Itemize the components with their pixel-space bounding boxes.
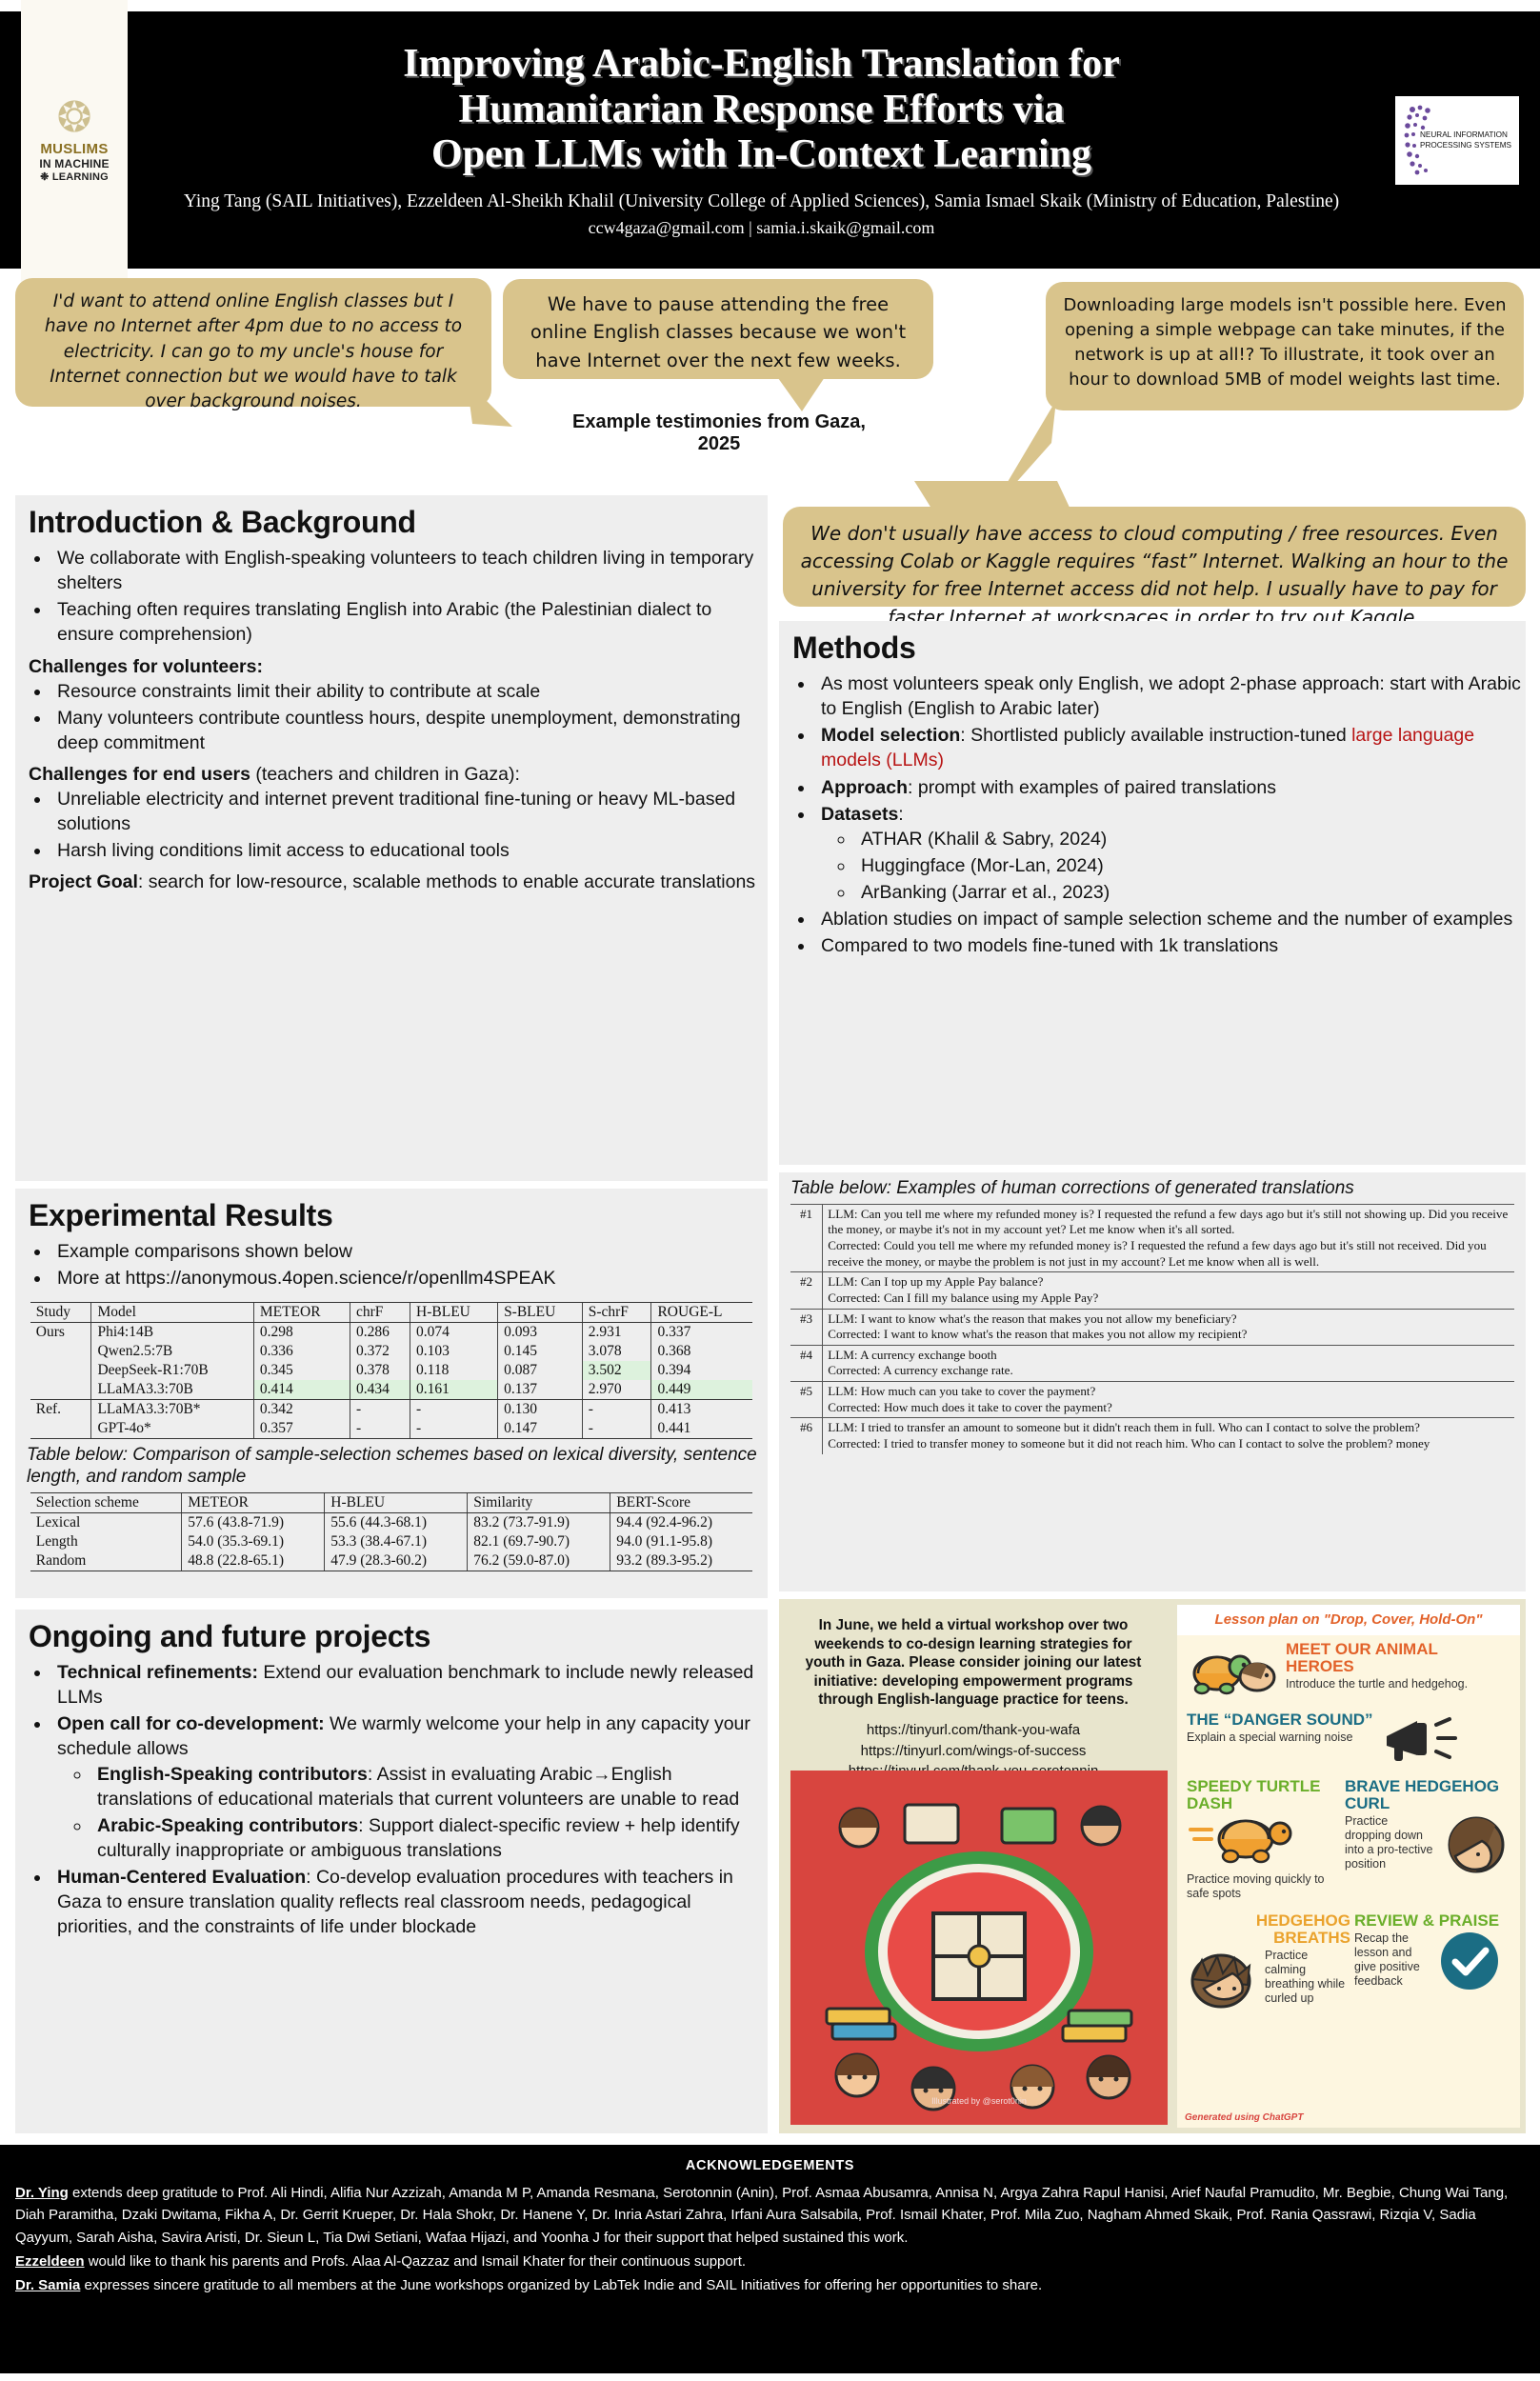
table-row: DeepSeek-R1:70B 0.345 0.378 0.118 0.087 … (30, 1361, 752, 1380)
list-item: Huggingface (Mor-Lan, 2024) (855, 853, 1526, 878)
running-turtle-icon (1187, 1812, 1301, 1866)
cell-sbleu: 0.147 (498, 1419, 583, 1439)
llm-label: LLM: (828, 1420, 861, 1434)
testimony-bubble-1: I'd want to attend online English classe… (15, 278, 491, 407)
open-call-label: Open call for co-development: (57, 1713, 325, 1734)
row-index: #3 (790, 1309, 823, 1345)
llm-text: Can I top up my Apple Pay balance? (861, 1274, 1044, 1289)
row-body: LLM: Can I top up my Apple Pay balance? … (823, 1272, 1514, 1309)
table-row: #4 LLM: A currency exchange booth Correc… (790, 1345, 1514, 1381)
volunteer-challenge-bullets: Resource constraints limit their ability… (51, 679, 768, 755)
cell-scheme: Length (30, 1532, 182, 1551)
breathing-hedgehog-icon (1187, 1947, 1261, 2015)
list-item: Many volunteers contribute countless hou… (51, 706, 768, 755)
corrected-text: Can I fill my balance using my Apple Pay… (884, 1291, 1098, 1305)
llm-text: I tried to transfer an amount to someone… (861, 1420, 1420, 1434)
row-index: #5 (790, 1382, 823, 1418)
corrections-caption: Table below: Examples of human correctio… (790, 1178, 1526, 1200)
cell-sbleu: 0.130 (498, 1400, 583, 1420)
experimental-bullets: Example comparisons shown below More at … (51, 1239, 768, 1291)
acknowledgements-section: ACKNOWLEDGEMENTS Dr. Ying extends deep g… (0, 2145, 1540, 2373)
gaza-classroom-illustration-icon (790, 1771, 1168, 2125)
workshop-panel: In June, we held a virtual workshop over… (779, 1599, 1526, 2133)
ack-text-ying: extends deep gratitude to Prof. Ali Hind… (15, 2185, 1508, 2246)
list-item: ATHAR (Khalil & Sabry, 2024) (855, 827, 1526, 851)
list-item: Harsh living conditions limit access to … (51, 838, 768, 863)
corrected-text: I tried to transfer money to someone but… (884, 1436, 1430, 1451)
ack-text-samia: expresses sincere gratitude to all membe… (80, 2277, 1042, 2293)
workshop-description: In June, we held a virtual workshop over… (785, 1605, 1162, 1710)
project-goal-bold: Project Goal (29, 871, 138, 892)
cell-rougel: 0.368 (651, 1342, 752, 1361)
challenges-volunteers-lead: Challenges for volunteers: (29, 656, 768, 678)
cell-hbleu: - (410, 1400, 498, 1420)
testimony-bubble-3: Downloading large models isn't possible … (1046, 282, 1524, 410)
cell-model: Phi4:14B (91, 1323, 253, 1343)
lesson-item-5-6: HEDGEHOG BREATHS Practice calming breath… (1177, 1907, 1520, 2021)
cell-schrf: 2.931 (582, 1323, 651, 1343)
testimony-bubble-2: We have to pause attending the free onli… (503, 279, 933, 379)
cell-meteor: 0.336 (253, 1342, 350, 1361)
logo-left-line2: IN MACHINE (39, 157, 109, 170)
row-body: LLM: I tried to transfer an amount to so… (823, 1418, 1514, 1454)
cell-schrf: 3.078 (582, 1342, 651, 1361)
table-row: GPT-4o* 0.357 - - 0.147 - 0.441 (30, 1419, 752, 1439)
llm-label: LLM: (828, 1274, 861, 1289)
list-item: Arabic-Speaking contributors: Support di… (91, 1813, 768, 1863)
cell-study: Ref. (30, 1400, 91, 1420)
turtle-hedgehog-icon (1187, 1641, 1278, 1700)
model-selection-label: Model selection (821, 725, 960, 746)
lesson-item-6-sub: Recap the lesson and give positive feedb… (1354, 1931, 1432, 1989)
cell-chrf: - (350, 1400, 410, 1420)
table-row: #3 LLM: I want to know what's the reason… (790, 1309, 1514, 1345)
row-body: LLM: I want to know what's the reason th… (823, 1309, 1514, 1345)
row-index: #6 (790, 1418, 823, 1454)
col-hbleu: H-BLEU (410, 1303, 498, 1323)
list-item: Compared to two models fine-tuned with 1… (815, 933, 1526, 958)
cell-chrf: - (350, 1419, 410, 1439)
list-item: Ablation studies on impact of sample sel… (815, 907, 1526, 931)
title-block: Improving Arabic-English Translation for… (128, 42, 1395, 239)
cell-model: DeepSeek-R1:70B (91, 1361, 253, 1380)
project-goal-rest: : search for low-resource, scalable meth… (138, 871, 755, 892)
human-centered-eval-label: Human-Centered Evaluation (57, 1867, 306, 1888)
list-item: More at https://anonymous.4open.science/… (51, 1266, 768, 1291)
methods-bullets: As most volunteers speak only English, w… (815, 671, 1526, 958)
table-row: Lexical 57.6 (43.8-71.9) 55.6 (44.3-68.1… (30, 1512, 752, 1532)
challenges-endusers-rest: (teachers and children in Gaza): (250, 764, 520, 785)
ack-name-samia: Dr. Samia (15, 2277, 80, 2293)
row-body: LLM: How much can you take to cover the … (823, 1382, 1514, 1418)
table-row: LLaMA3.3:70B 0.414 0.434 0.161 0.137 2.9… (30, 1380, 752, 1400)
introduction-heading: Introduction & Background (29, 505, 768, 540)
row-index: #2 (790, 1272, 823, 1309)
challenges-endusers-lead: Challenges for end users (teachers and c… (29, 764, 768, 786)
table-row: #6 LLM: I tried to transfer an amount to… (790, 1418, 1514, 1454)
col-chrf: chrF (350, 1303, 410, 1323)
lesson-item-4-sub: Practice dropping down into a pro-tectiv… (1345, 1814, 1436, 1871)
acknowledgement-paragraph-2: Ezzeldeen would like to thank his parent… (15, 2251, 1525, 2272)
cell-sbleu: 0.145 (498, 1342, 583, 1361)
lesson-plan-title-bar: Lesson plan on "Drop, Cover, Hold-On" (1177, 1605, 1520, 1635)
cell-study (30, 1342, 91, 1361)
title-line-1: Improving Arabic-English Translation for (139, 42, 1384, 88)
llm-label: LLM: (828, 1348, 860, 1362)
lesson-plan-title: Lesson plan on "Drop, Cover, Hold-On" (1215, 1611, 1483, 1628)
cell-study: Ours (30, 1323, 91, 1343)
testimony-bubble-2-text: We have to pause attending the free onli… (530, 293, 906, 371)
cell-model: LLaMA3.3:70B (91, 1380, 253, 1400)
poster-header: ❂ MUSLIMS IN MACHINE ❉ LEARNING Improvin… (0, 11, 1540, 269)
cell-similarity: 82.1 (69.7-90.7) (468, 1532, 610, 1551)
list-item: Open call for co-development: We warmly … (51, 1711, 768, 1863)
table-row: #5 LLM: How much can you take to cover t… (790, 1382, 1514, 1418)
cell-study (30, 1419, 91, 1439)
approach-label: Approach (821, 777, 908, 798)
corrected-label: Corrected: (828, 1363, 883, 1377)
col-rougel: ROUGE-L (651, 1303, 752, 1323)
datasets-rest: : (898, 804, 903, 825)
testimony-bubble-4: We don't usually have access to cloud co… (783, 507, 1526, 607)
experimental-results-panel: Experimental Results Example comparisons… (15, 1189, 768, 1598)
table-row: Ref. LLaMA3.3:70B* 0.342 - - 0.130 - 0.4… (30, 1400, 752, 1420)
cell-bertscore: 94.0 (91.1-95.8) (610, 1532, 752, 1551)
datasets-list: ATHAR (Khalil & Sabry, 2024) Huggingface… (855, 827, 1526, 905)
cell-study (30, 1361, 91, 1380)
workshop-link[interactable]: https://tinyurl.com/thank-you-wafa (785, 1720, 1162, 1741)
lesson-item-2-heading: THE “DANGER SOUND” (1187, 1711, 1373, 1729)
title-line-2: Humanitarian Response Efforts via (139, 88, 1384, 133)
cell-hbleu: 53.3 (38.4-67.1) (325, 1532, 468, 1551)
row-body: LLM: A currency exchange booth Corrected… (823, 1345, 1514, 1381)
experimental-results-heading: Experimental Results (29, 1198, 768, 1233)
human-corrections-table: #1 LLM: Can you tell me where my refunde… (790, 1204, 1514, 1454)
contact-emails: ccw4gaza@gmail.com | samia.i.skaik@gmail… (139, 218, 1384, 238)
neurips-logo: NEURAL INFORMATION PROCESSING SYSTEMS (1395, 96, 1519, 185)
col-model: Model (91, 1303, 253, 1323)
cell-model: LLaMA3.3:70B* (91, 1400, 253, 1420)
workshop-link[interactable]: https://tinyurl.com/wings-of-success (785, 1741, 1162, 1762)
sample-selection-table-caption: Table below: Comparison of sample-select… (27, 1445, 768, 1489)
lesson-item-5-heading: HEDGEHOG BREATHS (1187, 1912, 1350, 1947)
llm-label: LLM: (828, 1207, 861, 1221)
list-item: Example comparisons shown below (51, 1239, 768, 1264)
col-sbleu: S-BLEU (498, 1303, 583, 1323)
lesson-item-4-heading: BRAVE HEDGEHOG CURL (1345, 1778, 1510, 1812)
cell-meteor: 0.342 (253, 1400, 350, 1420)
cell-chrf: 0.378 (350, 1361, 410, 1380)
cell-schrf: 3.502 (582, 1361, 651, 1380)
approach-rest: : prompt with examples of paired transla… (908, 777, 1276, 798)
cell-rougel: 0.413 (651, 1400, 752, 1420)
english-contributors-label: English-Speaking contributors (97, 1764, 368, 1785)
table-header-row: Selection scheme METEOR H-BLEU Similarit… (30, 1492, 752, 1512)
cell-sbleu: 0.087 (498, 1361, 583, 1380)
neurips-dots-icon (1401, 102, 1449, 178)
cell-rougel: 0.394 (651, 1361, 752, 1380)
cell-meteor: 54.0 (35.3-69.1) (182, 1532, 325, 1551)
cell-meteor: 0.345 (253, 1361, 350, 1380)
col-hbleu: H-BLEU (325, 1492, 468, 1512)
cell-model: GPT-4o* (91, 1419, 253, 1439)
cell-meteor: 0.298 (253, 1323, 350, 1343)
llm-text: A currency exchange booth (860, 1348, 997, 1362)
list-item: Unreliable electricity and internet prev… (51, 787, 768, 836)
llm-label: LLM: (828, 1384, 861, 1398)
llm-text: How much can you take to cover the payme… (861, 1384, 1096, 1398)
lesson-item-1: MEET OUR ANIMAL HEROES Introduce the tur… (1177, 1635, 1520, 1706)
megaphone-icon (1381, 1711, 1463, 1767)
check-circle-icon (1438, 1930, 1501, 1992)
title-line-3: Open LLMs with In-Context Learning (139, 132, 1384, 178)
contributor-list: English-Speaking contributors: Assist in… (91, 1762, 768, 1864)
illustration-credit: Illustrated by @serot0nin (790, 2096, 1168, 2106)
col-meteor: METEOR (253, 1303, 350, 1323)
lesson-item-1-heading: MEET OUR ANIMAL HEROES (1286, 1641, 1510, 1675)
cell-hbleu: 55.6 (44.3-68.1) (325, 1512, 468, 1532)
table-row: Qwen2.5:7B 0.336 0.372 0.103 0.145 3.078… (30, 1342, 752, 1361)
corrected-label: Corrected: (828, 1291, 884, 1305)
list-item: Teaching often requires translating Engl… (51, 597, 768, 647)
testimony-bubble-4-text: We don't usually have access to cloud co… (801, 522, 1509, 629)
model-comparison-table: Study Model METEOR chrF H-BLEU S-BLEU S-… (30, 1302, 752, 1439)
cell-sbleu: 0.093 (498, 1323, 583, 1343)
lesson-plan-credit: Generated using ChatGPT (1185, 2112, 1303, 2123)
col-similarity: Similarity (468, 1492, 610, 1512)
table-row: #2 LLM: Can I top up my Apple Pay balanc… (790, 1272, 1514, 1309)
challenges-endusers-bold: Challenges for end users (29, 764, 250, 785)
methods-panel: Methods As most volunteers speak only En… (779, 621, 1526, 1165)
cell-meteor: 57.6 (43.8-71.9) (182, 1512, 325, 1532)
testimony-bubble-1-text: I'd want to attend online English classe… (45, 291, 462, 411)
cell-hbleu: - (410, 1419, 498, 1439)
cell-hbleu: 0.074 (410, 1323, 498, 1343)
flower-icon: ❂ (57, 97, 92, 139)
row-index: #4 (790, 1345, 823, 1381)
list-item: Human-Centered Evaluation: Co-develop ev… (51, 1865, 768, 1939)
cell-hbleu: 0.161 (410, 1380, 498, 1400)
cell-similarity: 83.2 (73.7-91.9) (468, 1512, 610, 1532)
list-item: Resource constraints limit their ability… (51, 679, 768, 704)
cell-hbleu: 47.9 (28.3-60.2) (325, 1551, 468, 1571)
cell-hbleu: 0.118 (410, 1361, 498, 1380)
corrections-panel: Table below: Examples of human correctio… (779, 1172, 1526, 1591)
cell-rougel: 0.449 (651, 1380, 752, 1400)
corrected-text: A currency exchange rate. (883, 1363, 1013, 1377)
future-projects-panel: Ongoing and future projects Technical re… (15, 1610, 768, 2133)
table-header-row: Study Model METEOR chrF H-BLEU S-BLEU S-… (30, 1303, 752, 1323)
cell-model: Qwen2.5:7B (91, 1342, 253, 1361)
cell-hbleu: 0.103 (410, 1342, 498, 1361)
corrected-text: Could you tell me where my refunded mone… (828, 1238, 1486, 1269)
list-item: Model selection: Shortlisted publicly av… (815, 723, 1526, 772)
cell-sbleu: 0.137 (498, 1380, 583, 1400)
cell-meteor: 0.357 (253, 1419, 350, 1439)
table-row: Random 48.8 (22.8-65.1) 47.9 (28.3-60.2)… (30, 1551, 752, 1571)
cell-similarity: 76.2 (59.0-87.0) (468, 1551, 610, 1571)
cell-bertscore: 94.4 (92.4-96.2) (610, 1512, 752, 1532)
lesson-item-3-4: SPEEDY TURTLE DASH Practice moving quick… (1177, 1772, 1520, 1907)
cell-scheme: Lexical (30, 1512, 182, 1532)
cell-rougel: 0.441 (651, 1419, 752, 1439)
lesson-item-1-sub: Introduce the turtle and hedgehog. (1286, 1677, 1510, 1691)
testimony-caption: Example testimonies from Gaza, 2025 (557, 411, 881, 455)
workshop-left-column: In June, we held a virtual workshop over… (785, 1605, 1162, 2128)
cell-schrf: 2.970 (582, 1380, 651, 1400)
list-item: We collaborate with English-speaking vol… (51, 546, 768, 595)
corrected-label: Corrected: (828, 1436, 884, 1451)
model-selection-rest: : Shortlisted publicly available instruc… (960, 725, 1351, 746)
future-bullets: Technical refinements: Extend our evalua… (51, 1660, 768, 1939)
introduction-panel: Introduction & Background We collaborate… (15, 495, 768, 1181)
project-goal: Project Goal: search for low-resource, s… (29, 871, 768, 893)
ack-name-ying: Dr. Ying (15, 2185, 69, 2201)
author-list: Ying Tang (SAIL Initiatives), Ezzeldeen … (139, 191, 1384, 212)
col-selection-scheme: Selection scheme (30, 1492, 182, 1512)
cell-study (30, 1380, 91, 1400)
llm-text: I want to know what's the reason that ma… (861, 1311, 1237, 1326)
cell-scheme: Random (30, 1551, 182, 1571)
llm-text: Can you tell me where my refunded money … (828, 1207, 1508, 1237)
table-row: Length 54.0 (35.3-69.1) 53.3 (38.4-67.1)… (30, 1532, 752, 1551)
lesson-plan-panel: Lesson plan on "Drop, Cover, Hold-On" ME… (1177, 1605, 1520, 2128)
future-projects-heading: Ongoing and future projects (29, 1619, 768, 1654)
cell-schrf: - (582, 1419, 651, 1439)
testimony-bubble-3-text: Downloading large models isn't possible … (1064, 295, 1507, 390)
technical-refinements-label: Technical refinements: (57, 1662, 258, 1683)
acknowledgements-title: ACKNOWLEDGEMENTS (15, 2158, 1525, 2173)
cell-bertscore: 93.2 (89.3-95.2) (610, 1551, 752, 1571)
corrected-text: How much does it take to cover the payme… (884, 1400, 1112, 1414)
testimony-bubble-1-tail (467, 381, 524, 438)
list-item: ArBanking (Jarrar et al., 2023) (855, 880, 1526, 905)
cell-meteor: 0.414 (253, 1380, 350, 1400)
cell-schrf: - (582, 1400, 651, 1420)
enduser-challenge-bullets: Unreliable electricity and internet prev… (51, 787, 768, 863)
acknowledgement-paragraph-3: Dr. Samia expresses sincere gratitude to… (15, 2274, 1525, 2296)
col-meteor: METEOR (182, 1492, 325, 1512)
table-row: Ours Phi4:14B 0.298 0.286 0.074 0.093 2.… (30, 1323, 752, 1343)
table-row: #1 LLM: Can you tell me where my refunde… (790, 1204, 1514, 1272)
corrected-label: Corrected: (828, 1238, 884, 1252)
cell-chrf: 0.372 (350, 1342, 410, 1361)
lesson-item-2: THE “DANGER SOUND” Explain a special war… (1177, 1706, 1520, 1772)
corrected-text: I want to know what's the reason that ma… (884, 1327, 1248, 1341)
ack-text-ezzeldeen: would like to thank his parents and Prof… (85, 2253, 747, 2270)
cell-chrf: 0.434 (350, 1380, 410, 1400)
row-index: #1 (790, 1204, 823, 1272)
list-item: English-Speaking contributors: Assist in… (91, 1762, 768, 1811)
curled-hedgehog-icon (1440, 1812, 1510, 1879)
datasets-label: Datasets (821, 804, 898, 825)
list-item: Technical refinements: Extend our evalua… (51, 1660, 768, 1710)
corrected-label: Corrected: (828, 1400, 884, 1414)
logo-left-line3: ❉ LEARNING (40, 170, 109, 183)
row-body: LLM: Can you tell me where my refunded m… (823, 1204, 1514, 1272)
lesson-item-6-heading: REVIEW & PRAISE (1354, 1912, 1510, 1930)
acknowledgement-paragraph-1: Dr. Ying extends deep gratitude to Prof.… (15, 2182, 1525, 2249)
ack-name-ezzeldeen: Ezzeldeen (15, 2253, 85, 2270)
col-schrf: S-chrF (582, 1303, 651, 1323)
lesson-item-5-sub: Practice calming breathing while curled … (1265, 1949, 1350, 2006)
page-title: Improving Arabic-English Translation for… (139, 42, 1384, 179)
list-item: Datasets: ATHAR (Khalil & Sabry, 2024) H… (815, 802, 1526, 906)
sample-selection-table: Selection scheme METEOR H-BLEU Similarit… (30, 1492, 752, 1571)
corrected-label: Corrected: (828, 1327, 884, 1341)
workshop-illustration: Illustrated by @serot0nin (790, 1771, 1168, 2125)
llm-label: LLM: (828, 1311, 861, 1326)
col-study: Study (30, 1303, 91, 1323)
list-item: As most volunteers speak only English, w… (815, 671, 1526, 721)
lesson-item-3-sub: Practice moving quickly to safe spots (1187, 1872, 1341, 1901)
logo-left-line1: MUSLIMS (40, 141, 108, 157)
lesson-item-3-heading: SPEEDY TURTLE DASH (1187, 1778, 1341, 1812)
cell-meteor: 48.8 (22.8-65.1) (182, 1551, 325, 1571)
list-item: Approach: prompt with examples of paired… (815, 775, 1526, 800)
muslims-in-machine-learning-logo: ❂ MUSLIMS IN MACHINE ❉ LEARNING (21, 0, 128, 305)
col-bertscore: BERT-Score (610, 1492, 752, 1512)
lesson-item-2-sub: Explain a special warning noise (1187, 1731, 1373, 1745)
cell-chrf: 0.286 (350, 1323, 410, 1343)
cell-rougel: 0.337 (651, 1323, 752, 1343)
testimony-bubble-4-tail (914, 481, 1086, 519)
introduction-bullets: We collaborate with English-speaking vol… (51, 546, 768, 648)
methods-heading: Methods (792, 630, 1526, 666)
arabic-contributors-label: Arabic-Speaking contributors (97, 1815, 358, 1836)
